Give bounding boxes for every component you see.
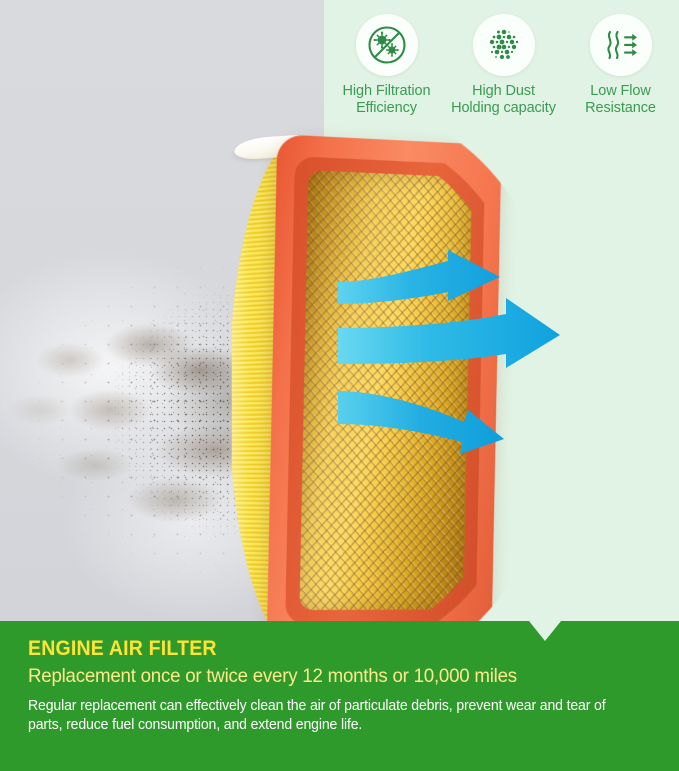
feature-label: Low Flow Resistance <box>585 83 656 117</box>
feature-item-low-flow-resistance: Low Flow Resistance <box>564 14 677 117</box>
no-germs-icon <box>366 24 408 66</box>
feature-label: High Filtration Efficiency <box>343 83 431 117</box>
feature-item-high-dust-holding-capacity: High Dust Holding capacity <box>447 14 560 117</box>
feature-badge <box>473 14 535 76</box>
banner-title: ENGINE AIR FILTER <box>28 638 609 659</box>
feature-badge <box>356 14 418 76</box>
airflow-waves-icon <box>600 24 642 66</box>
info-banner: ENGINE AIR FILTER Replacement once or tw… <box>0 621 679 771</box>
dust-particles-icon <box>483 24 525 66</box>
banner-content: ENGINE AIR FILTER Replacement once or tw… <box>28 638 653 736</box>
banner-description: Regular replacement can effectively clea… <box>28 697 626 736</box>
feature-label: High Dust Holding capacity <box>451 83 556 117</box>
feature-list: High Filtration Efficiency High Dust Hol… <box>328 14 679 117</box>
product-infographic: High Filtration Efficiency High Dust Hol… <box>0 0 679 771</box>
feature-badge <box>590 14 652 76</box>
air-filter-product <box>214 126 514 654</box>
banner-subtitle: Replacement once or twice every 12 month… <box>28 666 628 688</box>
filter-mesh-screen <box>299 170 472 610</box>
feature-item-high-filtration-efficiency: High Filtration Efficiency <box>330 14 443 117</box>
